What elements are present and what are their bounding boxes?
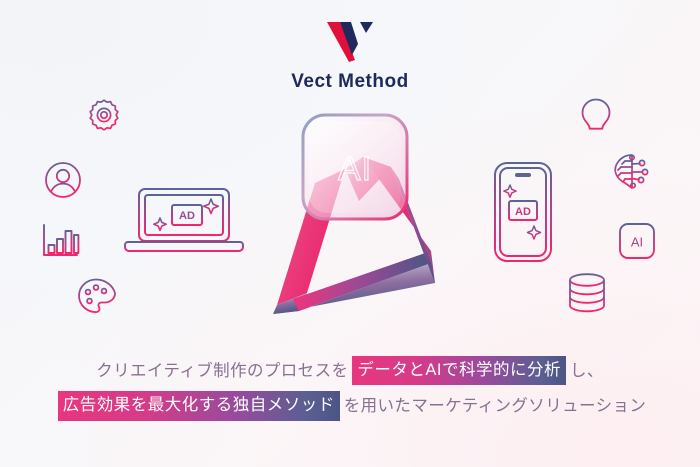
caption-line2-highlight: 広告効果を最大化する独自メソッド: [58, 391, 340, 420]
palette-icon: [76, 276, 116, 316]
gear-icon: [84, 96, 124, 136]
caption-line2-tail: を用いたマーケティングソリューション: [344, 395, 647, 417]
smartphone-icon: AD: [492, 160, 554, 264]
database-icon: [567, 272, 607, 314]
laptop-icon: AD: [125, 185, 243, 255]
vect-v-logo-icon: [327, 22, 373, 62]
laptop-ad-label: AD: [179, 210, 195, 222]
sparkle-icon: [154, 218, 166, 230]
bar-chart-icon: [40, 222, 80, 260]
sparkle-icon: [204, 199, 219, 214]
caption-line1-tail: し、: [570, 360, 604, 382]
sparkle-icon: [528, 226, 541, 239]
caption-line1-lead: クリエイティブ制作のプロセスを: [96, 360, 348, 382]
user-icon: [43, 160, 83, 200]
lightbulb-icon: [578, 97, 614, 141]
phone-speaker: [515, 173, 531, 177]
hero-graphic: AI: [255, 105, 455, 320]
ai-badge-icon: AI: [618, 222, 656, 260]
ai-badge-label: AI: [631, 235, 643, 250]
sparkle-icon: [504, 185, 516, 197]
caption-line1-highlight: データとAIで科学的に分析: [352, 356, 566, 385]
ai-glass-card: AI: [303, 115, 407, 219]
caption-line-2: 広告効果を最大化する独自メソッド を用いたマーケティングソリューション: [54, 391, 647, 420]
ai-card-label: AI: [338, 150, 372, 188]
caption-line-1: クリエイティブ制作のプロセスを データとAIで科学的に分析 し、: [96, 356, 604, 385]
slide-canvas: Vect Method: [0, 0, 700, 467]
brand-lockup: Vect Method: [0, 22, 700, 93]
phone-ad-label: AD: [515, 206, 531, 218]
caption-block: クリエイティブ制作のプロセスを データとAIで科学的に分析 し、 広告効果を最大…: [0, 356, 700, 421]
brand-name: Vect Method: [291, 71, 408, 93]
impossible-triangle-illustration: AI: [255, 105, 455, 320]
ai-brain-icon: [612, 152, 654, 192]
